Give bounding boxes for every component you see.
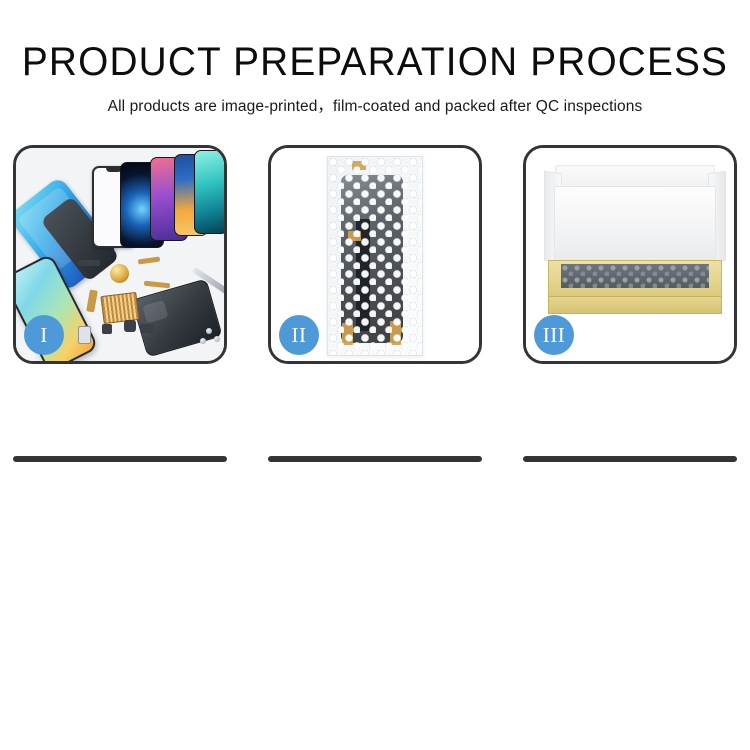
phone-back-plate <box>131 278 223 357</box>
camera-module <box>124 320 136 332</box>
process-step-panel-1[interactable]: I <box>13 145 227 364</box>
connector-part-1 <box>102 324 112 334</box>
process-step-panel-4[interactable]: Mobile Phone Spare Parts Mobile Phone Sp… <box>13 456 227 462</box>
box-lid-main-panel <box>554 186 716 266</box>
sim-card-tray <box>78 326 91 344</box>
flex-cable-2 <box>144 281 170 289</box>
step-badge-3: III <box>534 315 574 355</box>
step-badge-2: II <box>279 315 319 355</box>
process-step-panel-6[interactable]: VI <box>523 456 737 462</box>
screw-2 <box>214 336 220 342</box>
speaker-module <box>78 260 100 266</box>
page-header: PRODUCT PREPARATION PROCESS All products… <box>0 0 750 116</box>
page-title: PRODUCT PREPARATION PROCESS <box>11 0 739 84</box>
teal-gradient-screen <box>194 150 224 234</box>
process-step-panel-3[interactable]: III <box>523 145 737 364</box>
bubble-wrap-bag <box>327 156 423 356</box>
screw-1 <box>206 328 212 334</box>
flex-cable-1 <box>138 256 160 264</box>
bubble-texture <box>328 157 422 355</box>
vibration-motor-part <box>110 264 129 283</box>
process-step-grid: I II III <box>13 145 737 675</box>
process-step-panel-5[interactable]: V <box>268 456 482 462</box>
process-step-panel-2[interactable]: II <box>268 145 482 364</box>
yellow-box-front-wall <box>548 296 722 314</box>
connector-part-2 <box>140 324 154 333</box>
flex-cable-3 <box>86 289 98 312</box>
screw-3 <box>200 338 206 344</box>
grey-bubble-padding <box>561 264 709 288</box>
step-badge-1: I <box>24 315 64 355</box>
page-subtitle: All products are image-printed，film-coat… <box>0 84 750 116</box>
